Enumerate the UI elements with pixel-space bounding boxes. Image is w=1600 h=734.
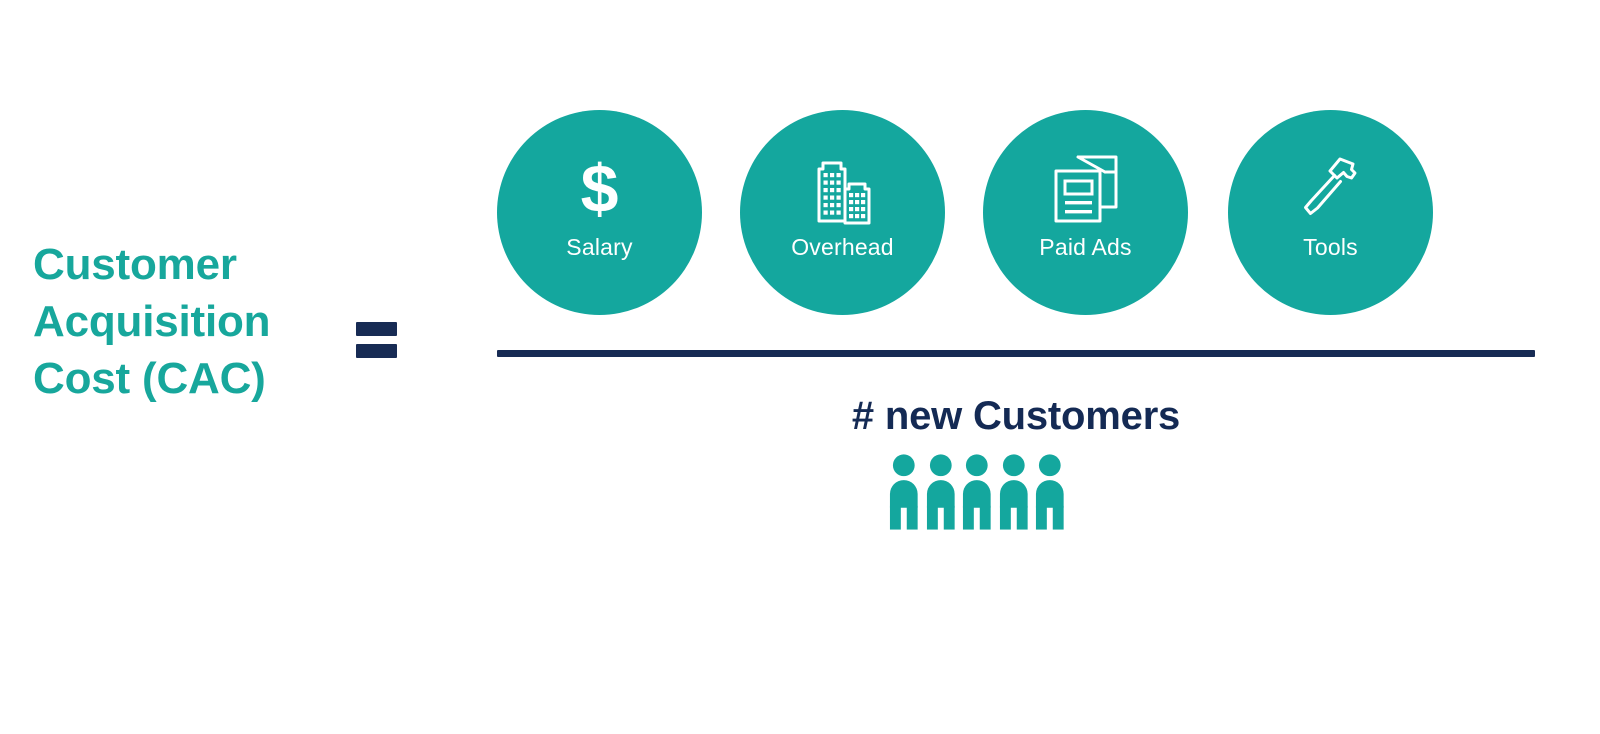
equals-sign (356, 322, 397, 358)
cost-circle-label: Tools (1303, 234, 1358, 260)
office-buildings-icon (805, 150, 881, 228)
equals-bar-bottom (356, 344, 397, 358)
cost-circle-tools[interactable]: Tools (1228, 110, 1433, 315)
denominator-label: # new Customers (497, 392, 1535, 440)
hammer-icon (1293, 150, 1369, 228)
person-icon (996, 452, 1032, 530)
cac-formula-diagram: Customer Acquisition Cost (CAC) $ Salary (0, 0, 1600, 734)
dollar-sign-icon: $ (581, 150, 619, 228)
numerator-cost-components: $ Salary (497, 110, 1433, 315)
person-icon (1032, 452, 1068, 530)
newspaper-ads-icon (1048, 150, 1124, 228)
page-title: Customer Acquisition Cost (CAC) (33, 236, 333, 407)
equals-bar-top (356, 322, 397, 336)
person-icon (886, 452, 922, 530)
cost-circle-salary[interactable]: $ Salary (497, 110, 702, 315)
cost-circle-label: Overhead (791, 234, 894, 260)
fraction-divider-line (497, 350, 1535, 357)
person-icon (959, 452, 995, 530)
person-icon (923, 452, 959, 530)
cost-circle-label: Paid Ads (1039, 234, 1131, 260)
cost-circle-paid-ads[interactable]: Paid Ads (983, 110, 1188, 315)
cost-circle-label: Salary (566, 234, 632, 260)
customers-people-group (886, 452, 1068, 530)
cost-circle-overhead[interactable]: Overhead (740, 110, 945, 315)
